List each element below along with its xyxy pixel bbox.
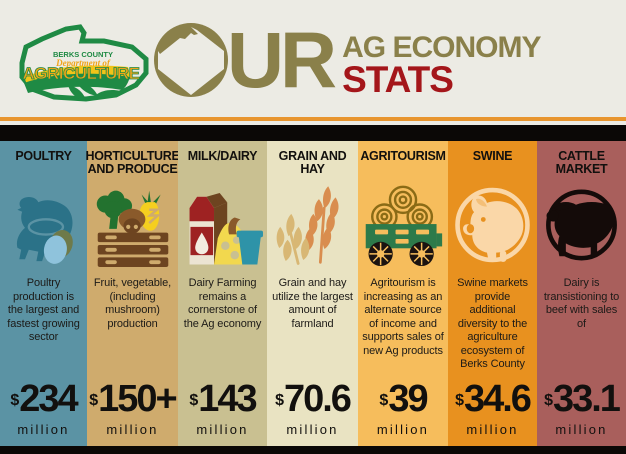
column-grain-hay: GRAIN AND HAY: [267, 141, 358, 446]
currency-symbol: $: [189, 384, 198, 418]
produce-crate-icon: [91, 179, 174, 271]
column-heading: MILK/DAIRY: [188, 150, 257, 178]
column-unit: million: [178, 422, 267, 437]
column-heading: AGRITOURISM: [360, 150, 445, 178]
milk-carton-icon: [182, 179, 263, 271]
stats-columns: POULTRY Poultry production is the larges…: [0, 141, 626, 446]
infographic-poster: BERKS COUNTY Department of AGRICULTURE: [0, 0, 626, 454]
column-unit: million: [87, 422, 178, 437]
black-divider-band: [0, 125, 626, 141]
currency-symbol: $: [379, 384, 388, 418]
cow-icon: [541, 179, 622, 271]
column-milk-dairy: MILK/DAIRY: [178, 141, 267, 446]
column-unit: million: [0, 422, 87, 437]
our-text: UR: [227, 21, 333, 99]
hay-wagon-icon: [362, 179, 444, 271]
stats-text: STATS: [342, 62, 540, 97]
logo-line3: AGRICULTURE: [23, 64, 140, 83]
column-unit: million: [267, 422, 358, 437]
column-heading: GRAIN AND HAY: [271, 150, 354, 178]
column-amount: 143: [198, 380, 255, 418]
column-description: Grain and hay utilize the largest amount…: [271, 277, 354, 331]
column-unit: million: [358, 422, 448, 437]
column-heading: POULTRY: [15, 150, 71, 178]
pig-icon: [452, 179, 533, 271]
our-o-mountain-icon: [152, 21, 230, 99]
column-description: Dairy Farming remains a cornerstone of t…: [182, 277, 263, 331]
subtitle-block: AG ECONOMY STATS: [342, 24, 540, 97]
column-unit: million: [537, 422, 626, 437]
column-amount: 33.1: [553, 380, 619, 418]
column-description: Swine markets provide additional diversi…: [452, 277, 533, 372]
column-swine: SWINE Swine markets provide additional d…: [448, 141, 537, 446]
column-heading: SWINE: [473, 150, 512, 178]
column-description: Dairy is transistioning to beef with sal…: [541, 277, 622, 331]
currency-symbol: $: [275, 384, 284, 418]
column-description: Fruit, vegetable, (including mushroom) p…: [91, 277, 174, 331]
bottom-black-band: [0, 446, 626, 454]
column-amount: 34.6: [464, 380, 530, 418]
header: BERKS COUNTY Department of AGRICULTURE: [0, 0, 626, 117]
column-cattle-market: CATTLE MARKET Dairy is transistioning to…: [537, 141, 626, 446]
column-unit: million: [448, 422, 537, 437]
column-poultry: POULTRY Poultry production is the larges…: [0, 141, 87, 446]
column-heading: HORTICULTURE AND PRODUCE: [85, 150, 179, 178]
berks-county-agriculture-logo: BERKS COUNTY Department of AGRICULTURE: [8, 17, 158, 105]
title-block: UR AG ECONOMY STATS: [152, 8, 540, 112]
currency-symbol: $: [455, 384, 464, 418]
column-heading: CATTLE MARKET: [541, 150, 622, 178]
column-figure: $ 143: [178, 380, 267, 418]
column-figure: $ 234: [0, 380, 87, 418]
column-description: Poultry production is the largest and fa…: [4, 277, 83, 345]
ag-economy-text: AG ECONOMY: [342, 33, 540, 62]
column-figure: $ 39: [358, 380, 448, 418]
column-figure: $ 33.1: [537, 380, 626, 418]
wheat-icon: [271, 179, 354, 271]
column-amount: 150+: [98, 380, 176, 418]
column-figure: $ 34.6: [448, 380, 537, 418]
column-figure: $ 150+: [87, 380, 178, 418]
column-figure: $ 70.6: [267, 380, 358, 418]
column-amount: 39: [388, 380, 426, 418]
currency-symbol: $: [89, 384, 98, 418]
chicken-icon: [4, 179, 83, 271]
column-agritourism: AGRITOURISM: [358, 141, 448, 446]
column-description: Agritourism is increasing as an alternat…: [362, 277, 444, 358]
column-amount: 234: [19, 380, 76, 418]
currency-symbol: $: [544, 384, 553, 418]
column-horticulture: HORTICULTURE AND PRODUCE: [87, 141, 178, 446]
column-amount: 70.6: [284, 380, 350, 418]
currency-symbol: $: [10, 384, 19, 418]
